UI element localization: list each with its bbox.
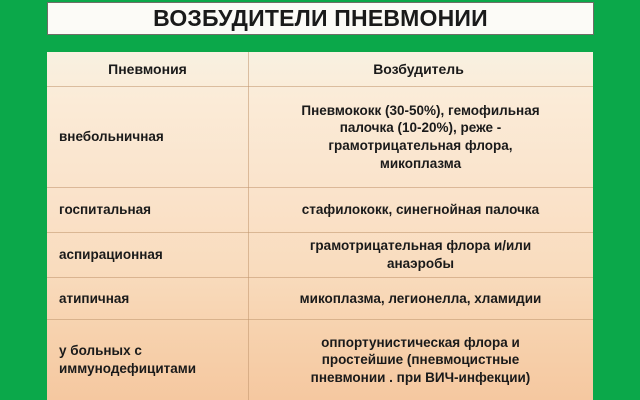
table-row: аспирационная грамотрицательная флора и/… <box>47 233 593 278</box>
column-header-pneumonia: Пневмония <box>47 52 248 86</box>
pathogen-label: грамотрицательная флора и/или анаэробы <box>310 237 531 272</box>
pathogen-label: Пневмококк (30-50%), гемофильная палочка… <box>301 102 539 172</box>
cell-pathogen: Пневмококк (30-50%), гемофильная палочка… <box>248 87 593 187</box>
cell-pneumonia-type: госпитальная <box>47 188 248 232</box>
page-title: ВОЗБУДИТЕЛИ ПНЕВМОНИИ <box>153 7 488 30</box>
cell-pneumonia-type: атипичная <box>47 278 248 319</box>
pneumonia-type-label: аспирационная <box>59 246 163 264</box>
table-header-row: Пневмония Возбудитель <box>47 52 593 87</box>
column-header-pathogen: Возбудитель <box>248 52 593 86</box>
pathogen-label: стафилококк, синегнойная палочка <box>302 201 539 219</box>
table-row: внебольничная Пневмококк (30-50%), гемоф… <box>47 87 593 188</box>
cell-pathogen: микоплазма, легионелла, хламидии <box>248 278 593 319</box>
pneumonia-type-label: госпитальная <box>59 201 151 219</box>
title-banner: ВОЗБУДИТЕЛИ ПНЕВМОНИИ <box>47 2 594 35</box>
pathogen-label: оппортунистическая флора и простейшие (п… <box>311 334 531 387</box>
pneumonia-type-label: атипичная <box>59 290 129 308</box>
cell-pneumonia-type: у больных с иммунодефицитами <box>47 320 248 400</box>
pathogen-table: Пневмония Возбудитель внебольничная Пнев… <box>47 52 593 400</box>
cell-pneumonia-type: внебольничная <box>47 87 248 187</box>
table-row: у больных с иммунодефицитами оппортунист… <box>47 320 593 400</box>
table-row: атипичная микоплазма, легионелла, хламид… <box>47 278 593 320</box>
pathogen-label: микоплазма, легионелла, хламидии <box>300 290 542 308</box>
cell-pneumonia-type: аспирационная <box>47 233 248 277</box>
cell-pathogen: стафилококк, синегнойная палочка <box>248 188 593 232</box>
pneumonia-type-label: у больных с иммунодефицитами <box>59 342 196 377</box>
column-header-pathogen-label: Возбудитель <box>373 60 464 78</box>
table-row: госпитальная стафилококк, синегнойная па… <box>47 188 593 233</box>
cell-pathogen: оппортунистическая флора и простейшие (п… <box>248 320 593 400</box>
column-header-pneumonia-label: Пневмония <box>108 60 187 78</box>
cell-pathogen: грамотрицательная флора и/или анаэробы <box>248 233 593 277</box>
pneumonia-type-label: внебольничная <box>59 128 164 146</box>
